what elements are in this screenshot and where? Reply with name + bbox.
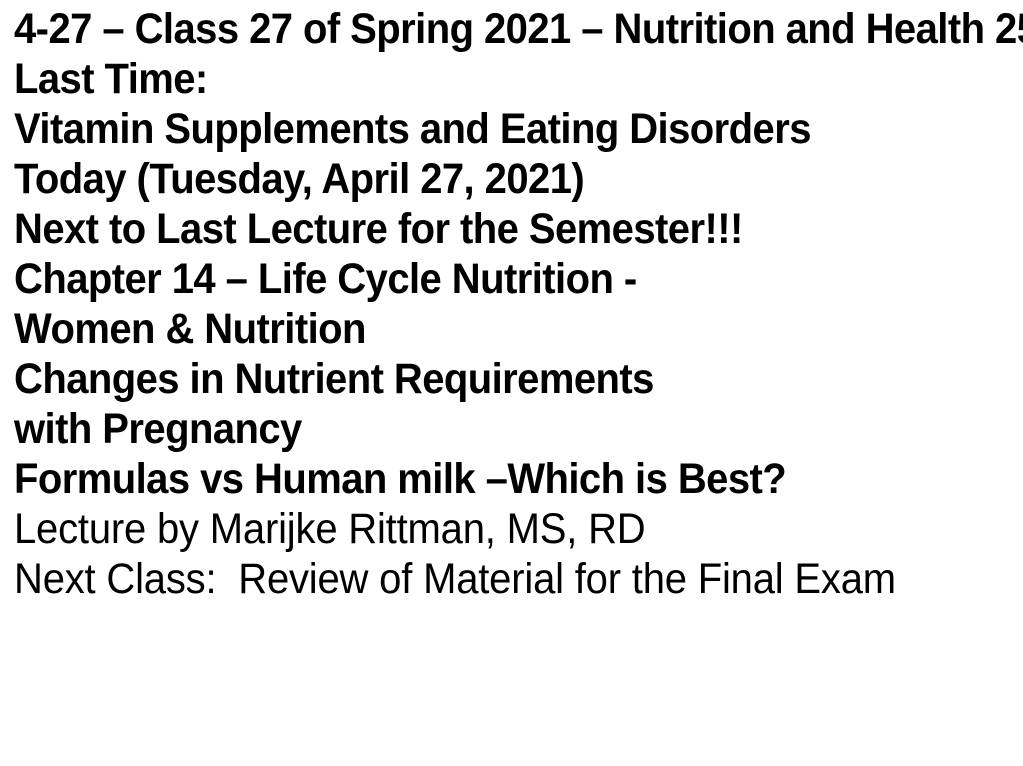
women-and-nutrition-topic: Women & Nutrition xyxy=(14,304,944,354)
slide-title: 4-27 – Class 27 of Spring 2021 – Nutriti… xyxy=(14,4,944,54)
last-time-topics: Vitamin Supplements and Eating Disorders xyxy=(14,104,944,154)
chapter-14-title: Chapter 14 – Life Cycle Nutrition - xyxy=(14,254,944,304)
lecture-slide: 4-27 – Class 27 of Spring 2021 – Nutriti… xyxy=(0,0,1023,766)
formulas-vs-human-milk-topic: Formulas vs Human milk –Which is Best? xyxy=(14,454,944,504)
today-date-heading: Today (Tuesday, April 27, 2021) xyxy=(14,154,944,204)
next-class-note: Next Class: Review of Material for the F… xyxy=(14,554,944,604)
last-time-heading: Last Time: xyxy=(14,54,944,104)
nutrient-requirements-topic: Changes in Nutrient Requirements xyxy=(14,354,944,404)
slide-text-block: 4-27 – Class 27 of Spring 2021 – Nutriti… xyxy=(14,4,1014,604)
next-to-last-lecture-note: Next to Last Lecture for the Semester!!! xyxy=(14,204,944,254)
lecturer-credit: Lecture by Marijke Rittman, MS, RD xyxy=(14,504,944,554)
with-pregnancy-topic: with Pregnancy xyxy=(14,404,944,454)
